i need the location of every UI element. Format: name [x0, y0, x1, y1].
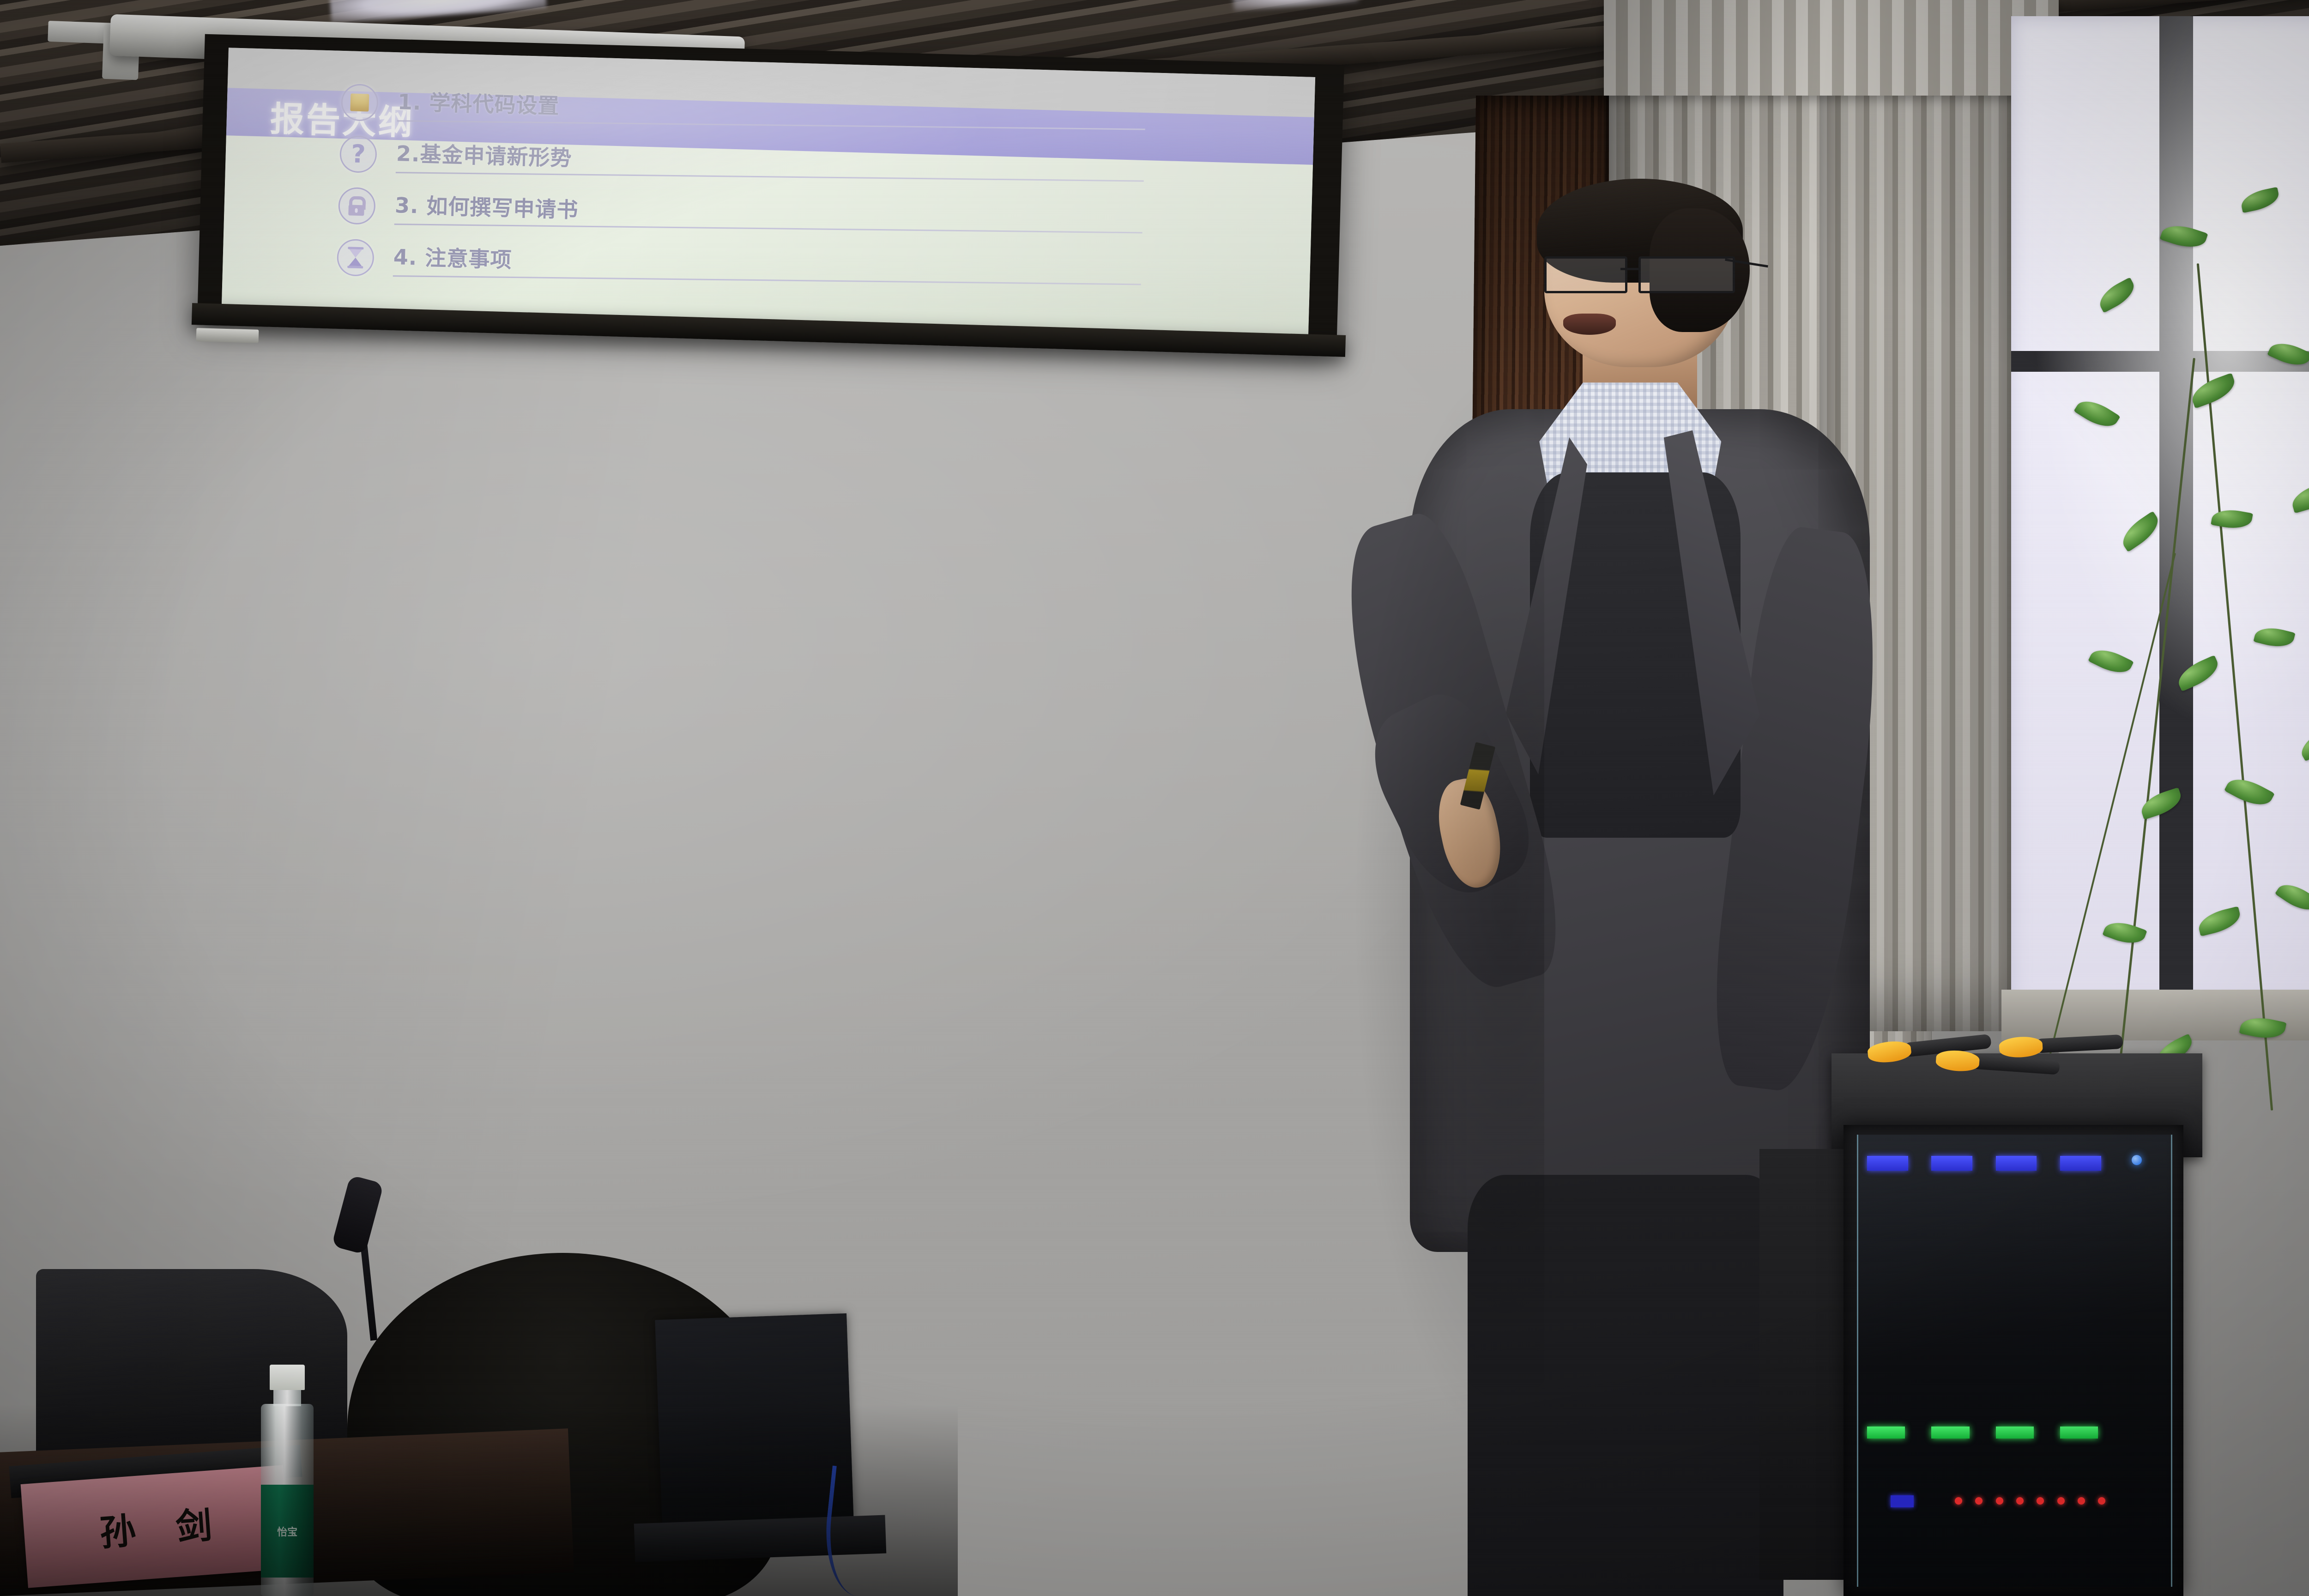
outline-item: ? 2.基金申请新形势 — [339, 136, 1144, 193]
blue-led-display — [1931, 1156, 1972, 1171]
hourglass-icon-glyph — [348, 247, 364, 268]
presenter-trousers — [1468, 1175, 1783, 1596]
red-level-led — [2098, 1497, 2105, 1505]
green-led-display — [1931, 1427, 1969, 1439]
outline-item-content: 4. 注意事项 — [393, 240, 1142, 297]
red-level-led — [2057, 1497, 2065, 1505]
outline-item: 4. 注意事项 — [337, 239, 1142, 296]
presentation-slide: 报告大纲 1. 学科代码设置 ? — [222, 48, 1315, 335]
microphone-group — [1868, 1025, 2131, 1097]
curtain-valance — [1604, 0, 2059, 96]
name-placard-text: 孙 剑 — [84, 1496, 228, 1558]
padlock-icon — [338, 187, 376, 224]
av-equipment-rack — [1844, 1125, 2183, 1596]
blue-led-display — [1867, 1156, 1908, 1171]
presentation-room-photo: 报告大纲 1. 学科代码设置 ? — [0, 0, 2309, 1596]
blue-numeric-display — [1891, 1495, 1914, 1507]
handheld-microphone — [1999, 1032, 2121, 1058]
red-level-led — [2037, 1497, 2044, 1505]
water-bottle: 怡宝 — [256, 1365, 319, 1596]
av-rack-glass-door — [1857, 1135, 2172, 1587]
question-mark-icon-glyph: ? — [351, 141, 366, 167]
green-led-display — [2060, 1427, 2098, 1439]
name-placard: 孙 剑 — [20, 1465, 290, 1588]
bottle-cap — [270, 1365, 304, 1390]
red-level-led — [2078, 1497, 2085, 1505]
book-icon-glyph — [351, 93, 369, 111]
padlock-icon-glyph — [348, 196, 367, 216]
red-level-led — [1955, 1497, 1962, 1505]
blue-led-display — [1996, 1156, 2037, 1171]
red-level-led — [1996, 1497, 2003, 1505]
projection-screen-pull-handle — [196, 328, 259, 343]
bottle-label: 怡宝 — [261, 1485, 313, 1577]
question-mark-icon: ? — [339, 135, 377, 173]
outline-item-content: 3. 如何撰写申请书 — [394, 188, 1143, 245]
blue-led-display — [2060, 1156, 2101, 1171]
green-led-display — [1867, 1427, 1905, 1439]
slide-outline-list: 1. 学科代码设置 ? 2.基金申请新形势 — [336, 84, 1146, 313]
laptop-screen — [655, 1313, 853, 1527]
outline-item: 3. 如何撰写申请书 — [338, 187, 1143, 244]
eyeglasses — [1544, 256, 1741, 289]
av-rack-meter-row — [1867, 1497, 2159, 1506]
av-rack-blue-display-row — [1867, 1156, 2159, 1171]
book-icon — [341, 83, 379, 121]
hourglass-icon — [337, 238, 375, 276]
green-led-display — [1996, 1427, 2034, 1439]
projection-screen: 报告大纲 1. 学科代码设置 ? — [222, 48, 1315, 335]
presenter-mouth — [1563, 314, 1616, 335]
outline-item-content: 2.基金申请新形势 — [396, 137, 1144, 193]
red-level-led — [1975, 1497, 1983, 1505]
power-indicator-led — [2132, 1155, 2142, 1165]
bottle-brand-text: 怡宝 — [277, 1524, 297, 1539]
av-rack-green-display-row — [1867, 1427, 2159, 1439]
red-level-led — [2016, 1497, 2024, 1505]
